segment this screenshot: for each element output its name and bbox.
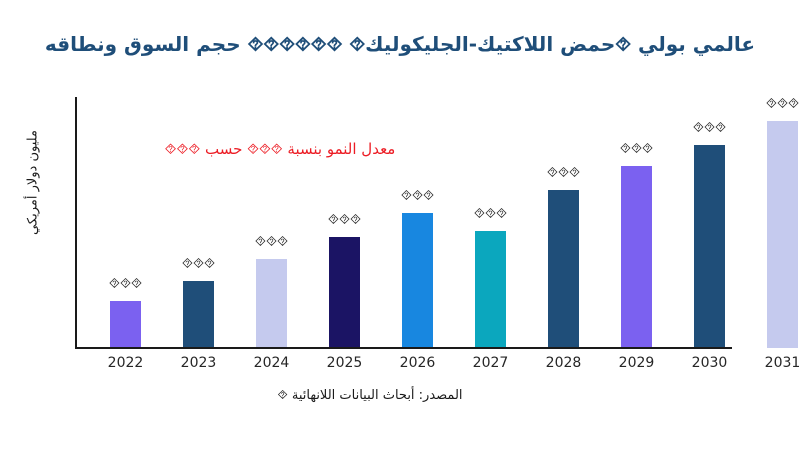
bar-value-label-2030: ⯑⯑⯑ — [680, 120, 740, 136]
x-tick-label-2022: 2022 — [91, 355, 161, 371]
x-tick-label-2031: 2031 — [748, 355, 800, 371]
bar-value-label-2026: ⯑⯑⯑ — [388, 188, 448, 204]
x-tick-label-2024: 2024 — [237, 355, 307, 371]
bar-2029 — [621, 166, 652, 348]
bar-2028 — [548, 190, 579, 348]
bar-2023 — [183, 281, 214, 348]
bar-value-label-2023: ⯑⯑⯑ — [169, 256, 229, 272]
bar-value-label-2024: ⯑⯑⯑ — [242, 234, 302, 250]
y-axis-line — [75, 97, 77, 348]
bar-value-label-2022: ⯑⯑⯑ — [96, 276, 156, 292]
bar-2026 — [402, 213, 433, 348]
bar-2031 — [767, 121, 798, 348]
x-tick-label-2027: 2027 — [456, 355, 526, 371]
bar-2024 — [256, 259, 287, 348]
plot-area: ⯑⯑⯑2022⯑⯑⯑2023⯑⯑⯑2024⯑⯑⯑2025⯑⯑⯑2026⯑⯑⯑20… — [0, 0, 800, 450]
bar-chart-figure: عالمي بولي ⯑حمض اللاكتيك-الجليكوليك⯑ ⯑⯑⯑… — [0, 0, 800, 450]
x-tick-label-2028: 2028 — [529, 355, 599, 371]
bar-2025 — [329, 237, 360, 348]
x-tick-label-2026: 2026 — [383, 355, 453, 371]
bar-value-label-2029: ⯑⯑⯑ — [607, 141, 667, 157]
bar-value-label-2025: ⯑⯑⯑ — [315, 212, 375, 228]
bar-2027 — [475, 231, 506, 348]
x-axis-line — [75, 347, 732, 349]
bar-value-label-2028: ⯑⯑⯑ — [534, 165, 594, 181]
x-tick-label-2030: 2030 — [675, 355, 745, 371]
growth-rate-annotation: معدل النمو بنسبة ⯑⯑⯑ حسب ⯑⯑⯑ — [120, 140, 440, 158]
x-tick-label-2029: 2029 — [602, 355, 672, 371]
bar-2030 — [694, 145, 725, 348]
bar-value-label-2031: ⯑⯑⯑ — [753, 96, 800, 112]
bar-2022 — [110, 301, 141, 348]
x-tick-label-2023: 2023 — [164, 355, 234, 371]
bar-value-label-2027: ⯑⯑⯑ — [461, 206, 521, 222]
x-tick-label-2025: 2025 — [310, 355, 380, 371]
source-note: المصدر: أبحاث البيانات اللانهائية ⯑ — [0, 388, 740, 403]
